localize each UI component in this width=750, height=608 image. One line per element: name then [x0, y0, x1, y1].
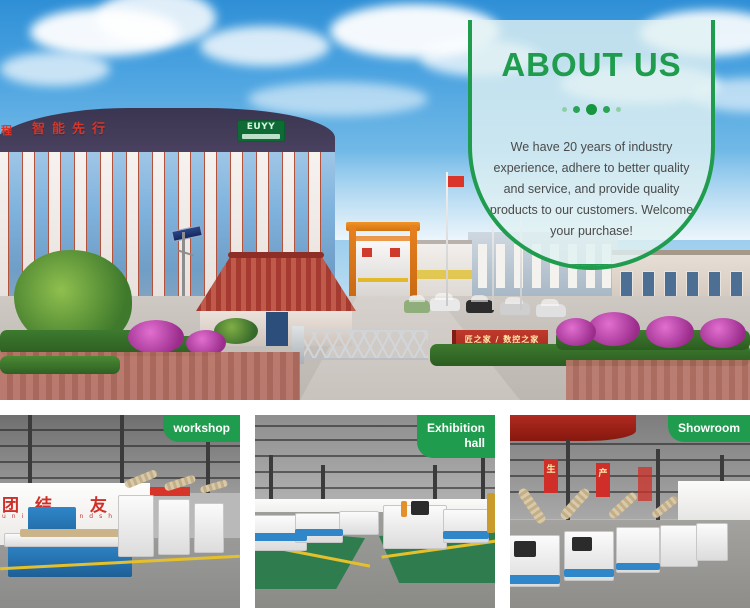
cnc-machine-white: [158, 499, 190, 555]
about-us-paragraph: We have 20 years of industry experience,…: [488, 137, 695, 242]
machine-accent-blue: [443, 531, 489, 539]
cloud-shape: [0, 52, 110, 86]
showroom-machine: [660, 525, 698, 567]
showroom-machine: [696, 523, 728, 561]
parked-car: [430, 298, 460, 311]
parked-car: [500, 302, 530, 315]
flowering-shrub: [128, 320, 184, 354]
dot-icon: [573, 106, 580, 113]
flowering-shrub: [700, 318, 746, 348]
thumbnail-workshop[interactable]: 团结 友爱 unit friendship workshop: [0, 415, 240, 608]
parked-car: [536, 304, 566, 317]
exhibition-machine: [339, 511, 379, 535]
machine-control-screen: [572, 537, 592, 551]
gantry-arch-top: [346, 222, 420, 231]
dot-icon: [586, 104, 597, 115]
gatehouse-roof-ridge: [228, 252, 324, 258]
flag: [448, 176, 464, 187]
gantry-arch-right-post: [410, 225, 417, 297]
flowering-shrub: [588, 312, 640, 346]
gantry-arch-left-post: [349, 225, 356, 297]
about-us-banner: 工程 智能先行 EUYY: [0, 0, 750, 608]
tag-line-2: hall: [464, 436, 485, 450]
banner-char-2: 产: [596, 466, 610, 479]
machine-accent-orange: [401, 501, 407, 517]
hall-side-door: [487, 493, 495, 533]
gantry-arch-brace: [349, 236, 417, 241]
hero-factory-image: 工程 智能先行 EUYY: [0, 0, 750, 400]
flagpole: [446, 172, 448, 306]
showroom-rear-wall: [678, 481, 750, 521]
about-us-divider: [561, 264, 623, 266]
machine-control-screen: [514, 541, 536, 557]
dot-icon: [603, 106, 610, 113]
brick-paving-right: [566, 360, 750, 400]
company-logo-text: EUYY: [238, 122, 284, 133]
dot-icon: [616, 107, 621, 112]
inner-warehouse: [356, 238, 410, 296]
thumbnail-tag-exhibition-hall: Exhibition hall: [417, 415, 495, 458]
flowering-shrub: [646, 316, 694, 348]
about-us-heading: ABOUT US: [472, 46, 711, 84]
machine-control-panel: [411, 501, 429, 515]
hedge-row: [0, 356, 120, 374]
about-us-badge: ABOUT US We have 20 years of industry ex…: [468, 20, 715, 270]
cnc-machine-white: [194, 503, 224, 553]
building-sign-secondary: 工程: [0, 122, 16, 138]
cloud-shape: [200, 26, 330, 66]
machine-accent-blue: [295, 529, 343, 536]
red-roof-beam: [510, 415, 636, 441]
facility-thumbnail-row: 团结 友爱 unit friendship workshop: [0, 415, 750, 608]
dot-icon: [562, 107, 567, 112]
machine-accent-blue: [510, 575, 560, 584]
machine-accent-blue: [564, 569, 614, 577]
parked-car: [404, 300, 430, 313]
thumbnail-exhibition-hall[interactable]: Exhibition hall: [255, 415, 495, 608]
gatehouse-door: [266, 312, 288, 346]
cnc-machine-white: [118, 495, 154, 557]
tag-line-1: Exhibition: [427, 421, 485, 435]
machine-accent-blue: [616, 563, 660, 570]
company-logo-subtext-bar: [242, 134, 280, 139]
hanging-banner-mid: 产: [596, 463, 610, 497]
decorative-dots: [472, 104, 711, 115]
hanging-banner-left: 生: [544, 459, 558, 493]
hanging-banner-right: [638, 467, 652, 501]
thumbnail-showroom[interactable]: 生 产 Showroom: [510, 415, 750, 608]
banner-char-1: 生: [544, 462, 558, 475]
cnc-machine-table: [8, 543, 132, 577]
building-sign-text: 智能先行: [32, 118, 112, 137]
machine-bed: [20, 529, 130, 537]
thumbnail-tag-workshop: workshop: [163, 415, 240, 442]
thumbnail-tag-showroom: Showroom: [668, 415, 750, 442]
retractable-gate: [300, 330, 428, 360]
parked-car: [466, 300, 494, 313]
company-logo: EUYY: [237, 120, 285, 142]
flowering-shrub: [556, 318, 596, 346]
